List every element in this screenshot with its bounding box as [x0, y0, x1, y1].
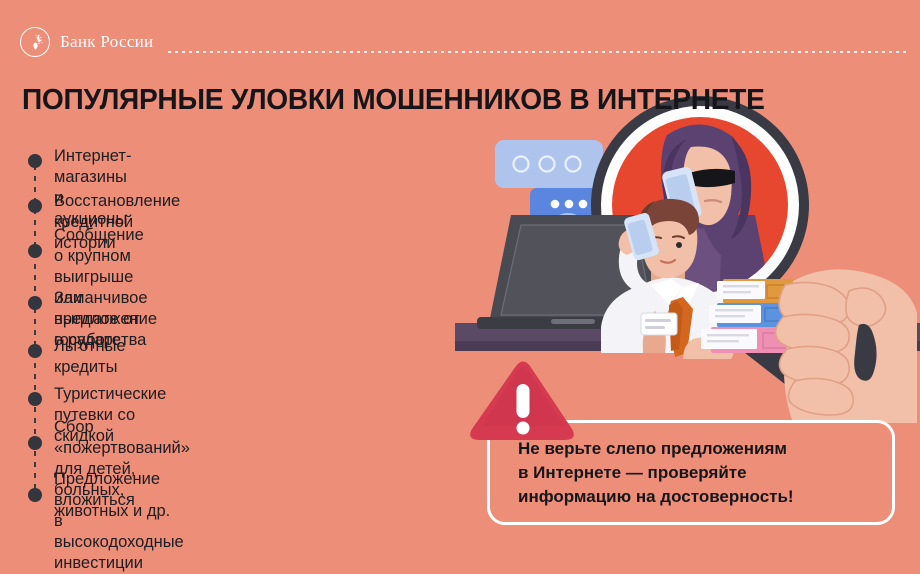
bullet-dot-icon	[28, 344, 42, 358]
list-item-label: Предложение вложиться в высокодоходные и…	[54, 469, 184, 574]
gripping-hand-icon	[775, 269, 917, 423]
bullet-dot-icon	[28, 244, 42, 258]
warning-triangle-icon	[468, 358, 578, 450]
header-dotted-rule	[168, 51, 908, 53]
page-title: ПОПУЛЯРНЫЕ УЛОВКИ МОШЕННИКОВ В ИНТЕРНЕТЕ	[22, 84, 765, 117]
bullet-dot-icon	[28, 392, 42, 406]
bullet-dot-icon	[28, 296, 42, 310]
bullet-dot-icon	[28, 199, 42, 213]
bullet-dot-icon	[28, 488, 42, 502]
page-header: Банк России	[0, 0, 920, 68]
tricks-list: Интернет-магазины и аукционы Восстановле…	[26, 140, 446, 515]
bank-of-russia-logo-text: Банк России	[60, 32, 153, 52]
bank-of-russia-logo: Банк России	[20, 27, 153, 57]
bullet-dot-icon	[28, 436, 42, 450]
bank-of-russia-eagle-emblem-icon	[20, 27, 50, 57]
bullet-dot-icon	[28, 154, 42, 168]
list-item-label: Льготные кредиты	[54, 336, 126, 378]
